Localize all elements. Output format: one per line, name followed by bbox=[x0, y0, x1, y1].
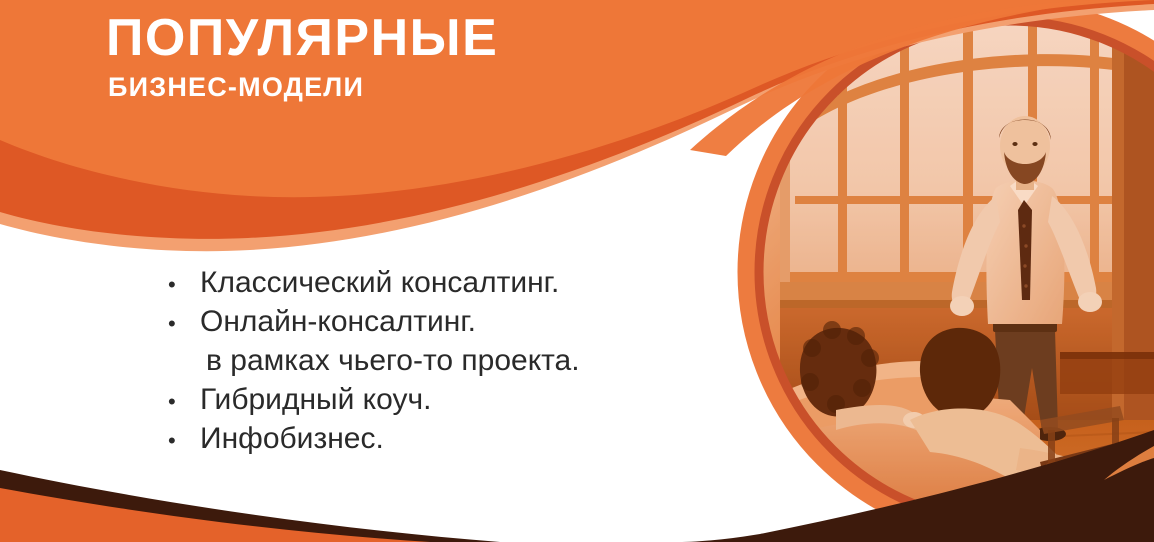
bullet-dot-icon: • bbox=[168, 313, 200, 335]
bullet-dot-icon: • bbox=[168, 274, 200, 296]
list-item-label: Гибридный коуч. bbox=[200, 385, 431, 415]
slide-canvas: ПОПУЛЯРНЫЕ БИЗНЕС-МОДЕЛИ • Классический … bbox=[0, 0, 1154, 542]
bullet-list: • Классический консалтинг. • Онлайн-конс… bbox=[168, 268, 728, 463]
list-item-label: Инфобизнес. bbox=[200, 424, 384, 454]
bullet-dot-icon: • bbox=[168, 391, 200, 413]
list-item: • Классический консалтинг. bbox=[168, 268, 728, 307]
list-item-label: Классический консалтинг. bbox=[200, 268, 559, 298]
list-item-label: Онлайн-консалтинг. bbox=[200, 307, 476, 337]
list-item: • Онлайн-консалтинг. bbox=[168, 307, 728, 346]
list-item-label: в рамках чьего-то проекта. bbox=[200, 346, 580, 376]
list-item: • Гибридный коуч. bbox=[168, 385, 728, 424]
bullet-dot-icon: • bbox=[168, 430, 200, 452]
list-item-continuation: • в рамках чьего-то проекта. bbox=[168, 346, 728, 385]
list-item: • Инфобизнес. bbox=[168, 424, 728, 463]
